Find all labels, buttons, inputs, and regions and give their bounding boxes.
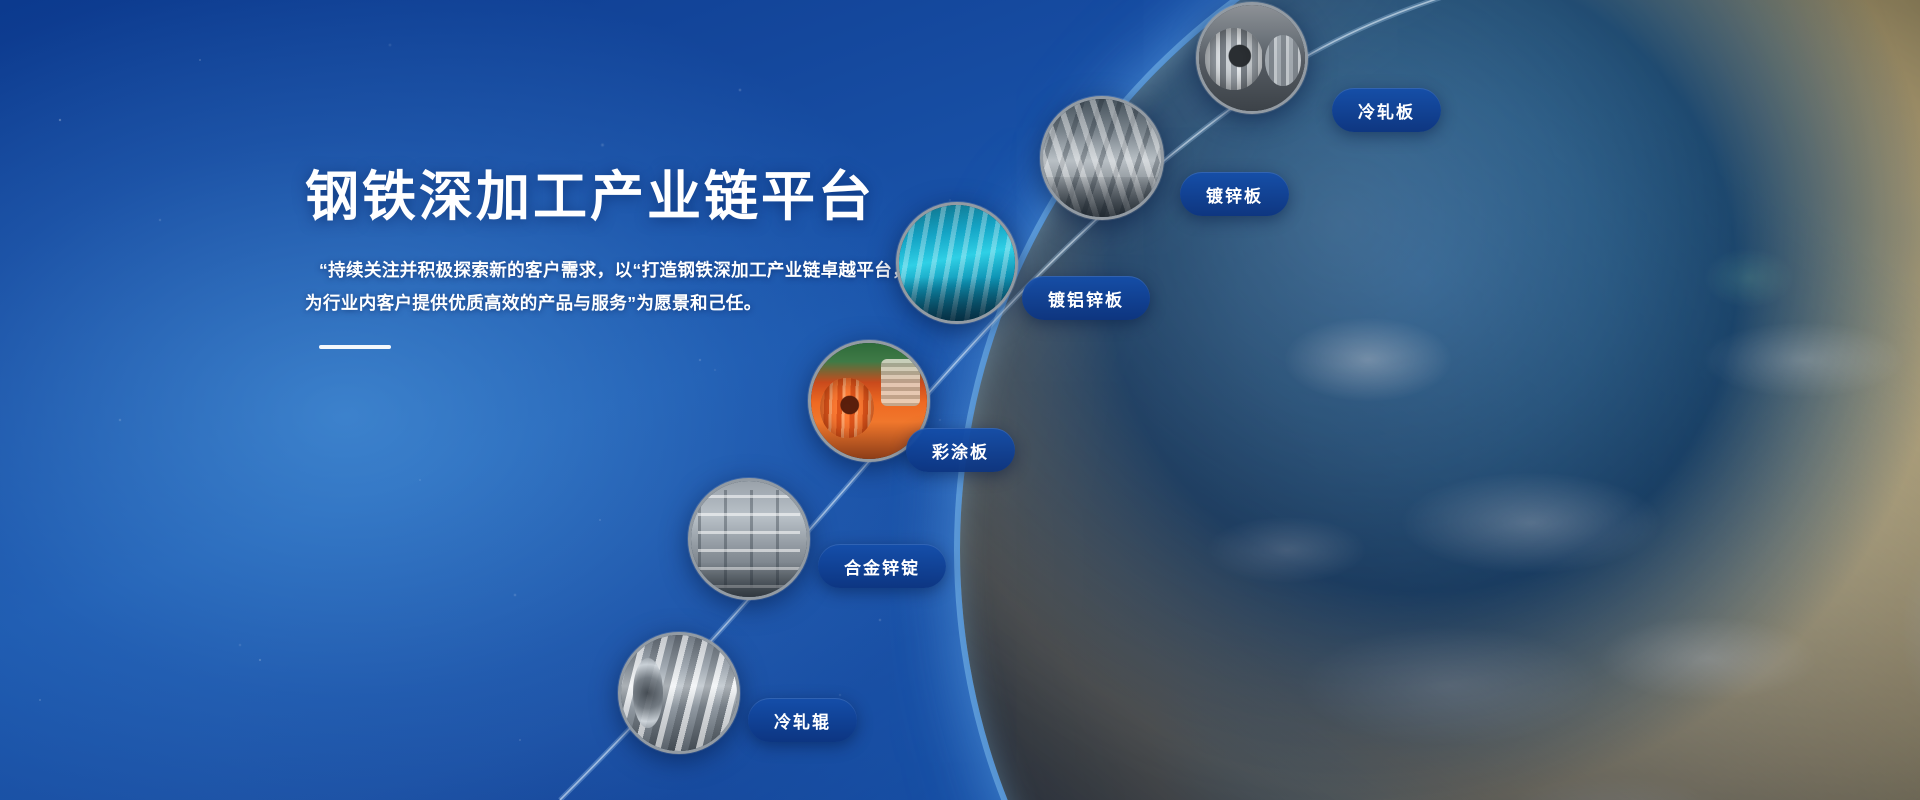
rolling-roll-photo[interactable] bbox=[618, 632, 740, 754]
warehouse-photo-content bbox=[1043, 99, 1161, 217]
rolling-roll-photo-content bbox=[621, 635, 737, 751]
product-label-color-coated-sheet[interactable]: 彩涂板 bbox=[906, 428, 1015, 472]
product-label-zinc-alloy-ingot[interactable]: 合金锌锭 bbox=[818, 544, 946, 588]
subtitle-line-2: 为行业内客户提供优质高效的产品与服务”为愿景和己任。 bbox=[305, 287, 945, 319]
zinc-ingot-stack-photo[interactable] bbox=[688, 478, 810, 600]
product-label-cold-rolled-sheet[interactable]: 冷轧板 bbox=[1332, 88, 1441, 132]
hero-copy: 钢铁深加工产业链平台 “持续关注并积极探索新的客户需求，以“打造钢铁深加工产业链… bbox=[305, 168, 945, 349]
subtitle-line-1: “持续关注并积极探索新的客户需求，以“打造钢铁深加工产业链卓越平台， bbox=[319, 254, 945, 286]
starfield-decoration bbox=[0, 0, 1920, 800]
zinc-ingot-photo-content bbox=[691, 481, 807, 597]
hero-subtitle: “持续关注并积极探索新的客户需求，以“打造钢铁深加工产业链卓越平台， 为行业内客… bbox=[305, 254, 945, 319]
coil-photo-content bbox=[1199, 5, 1305, 111]
galvalume-photo-content bbox=[899, 205, 1015, 321]
coil-warehouse-photo[interactable] bbox=[1040, 96, 1164, 220]
product-chain-curve bbox=[0, 0, 1920, 800]
galvalume-coil-photo[interactable] bbox=[896, 202, 1018, 324]
title-underline bbox=[319, 345, 391, 349]
page-title: 钢铁深加工产业链平台 bbox=[305, 168, 945, 226]
product-label-cold-rolling-roll[interactable]: 冷轧辊 bbox=[748, 698, 857, 742]
steel-coil-photo[interactable] bbox=[1196, 2, 1308, 114]
hero-banner: 钢铁深加工产业链平台 “持续关注并积极探索新的客户需求，以“打造钢铁深加工产业链… bbox=[0, 0, 1920, 800]
product-label-galvalume-sheet[interactable]: 镀铝锌板 bbox=[1022, 276, 1150, 320]
product-label-galvanized-sheet[interactable]: 镀锌板 bbox=[1180, 172, 1289, 216]
